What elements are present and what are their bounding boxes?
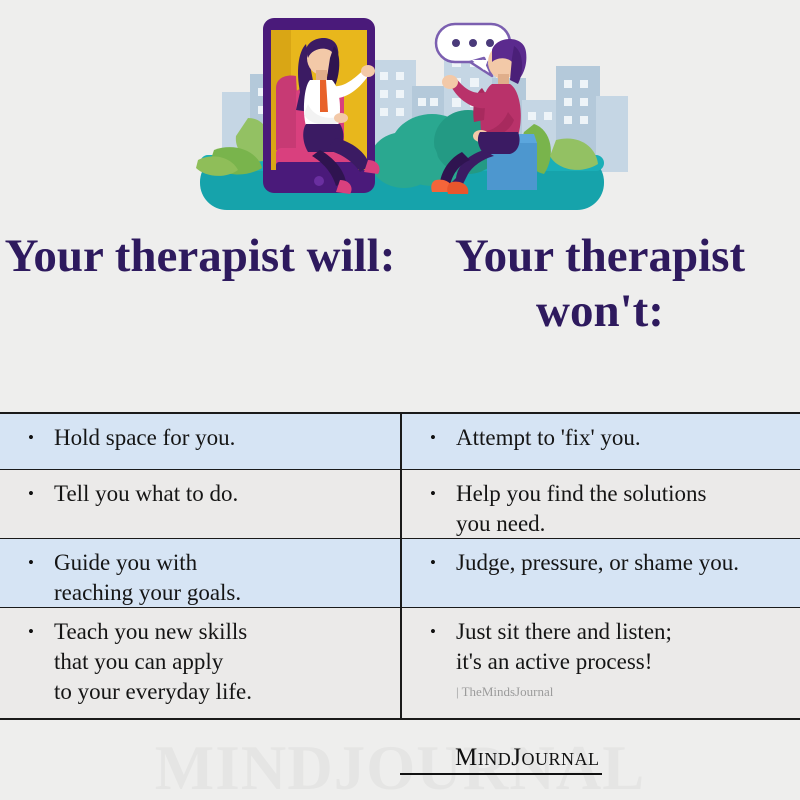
heading-cell-right: Your therapist won't: [400, 215, 800, 412]
list-item: • Guide you with reaching your goals. [0, 539, 400, 608]
list-item-text: Teach you new skills that you can apply … [54, 617, 390, 707]
column-headings: Your therapist will: Your therapist won'… [0, 215, 800, 412]
list-item-text: Attempt to 'fix' you. [456, 423, 790, 453]
infographic-canvas: Your therapist will: Your therapist won'… [0, 0, 800, 800]
list-item: • Help you find the solutions you need. [402, 470, 800, 539]
heading-cell-left: Your therapist will: [0, 215, 400, 412]
footer: MINDJOURNAL MindJournal [0, 720, 800, 800]
bullet-icon: • [28, 548, 54, 578]
list-item-text: Hold space for you. [54, 423, 390, 453]
bullet-icon: • [28, 423, 54, 453]
list-item: • Tell you what to do. [0, 470, 400, 539]
list-item-text: Judge, pressure, or shame you. [456, 548, 790, 578]
page-title-right: Your therapist won't: [400, 229, 800, 338]
bullet-icon: • [430, 423, 456, 453]
list-item: • Teach you new skills that you can appl… [0, 608, 400, 718]
list-item: • Hold space for you. [0, 414, 400, 470]
list-item-text: Help you find the solutions you need. [456, 479, 790, 539]
list-item-text: Guide you with reaching your goals. [54, 548, 390, 608]
list-item-text: Tell you what to do. [54, 479, 390, 509]
comparison-table: • Hold space for you. • Tell you what to… [0, 412, 800, 720]
bullet-icon: • [430, 479, 456, 509]
source-attribution: | TheMindsJournal [456, 683, 790, 701]
page-title-left: Your therapist will: [5, 229, 396, 284]
online-therapy-session-illustration [0, 0, 800, 215]
bullet-icon: • [28, 617, 54, 647]
list-item: • Attempt to 'fix' you. [402, 414, 800, 470]
list-item-text: Just sit there and listen; it's an activ… [456, 619, 672, 674]
bullet-icon: • [430, 617, 456, 647]
list-item: • Just sit there and listen; it's an act… [402, 608, 800, 718]
brand-logo-text: MindJournal [400, 744, 602, 775]
phone-frame-with-therapist [263, 18, 380, 194]
table-column-will: • Hold space for you. • Tell you what to… [0, 414, 400, 718]
list-item: • Judge, pressure, or shame you. [402, 539, 800, 608]
bullet-icon: • [28, 479, 54, 509]
brand-logo: MindJournal [400, 744, 700, 775]
table-column-wont: • Attempt to 'fix' you. • Help you find … [400, 414, 800, 718]
bullet-icon: • [430, 548, 456, 578]
